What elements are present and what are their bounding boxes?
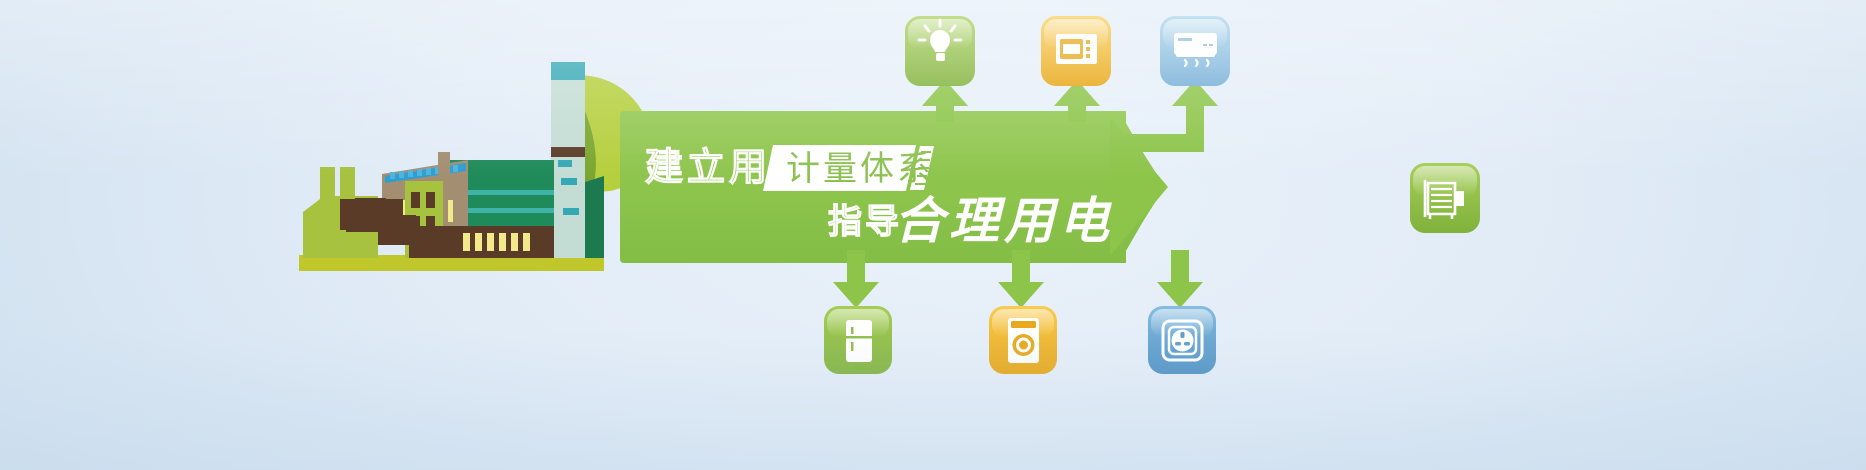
icon-power-socket[interactable] [1148,306,1216,374]
chimney [551,62,585,258]
badge-label-text: 计量体系 [786,150,934,188]
front-hall [409,226,554,258]
banner-illustration-layer: 建立用电 计量体系 指导 合理用电 [0,0,1866,470]
refrigerator-glyph [846,320,872,362]
icon-washing-machine[interactable] [989,306,1057,374]
icon-refrigerator[interactable] [824,306,892,374]
badge-ribbon: 计量体系 [763,145,934,191]
icon-electric-motor[interactable] [1410,163,1480,233]
small-chimney [438,152,450,186]
line2-emphasis-text: 合理用电 [894,193,1114,249]
banner-canvas: 建立用电 计量体系 指导 合理用电 照明灯具 微波炉 空调 电冰箱 洗衣机 电源… [0,0,1866,470]
icon-microwave[interactable] [1041,16,1111,86]
icon-light-bulb[interactable] [905,16,975,86]
line2-prefix-text: 指导 [828,203,902,241]
washing-machine-glyph [1008,318,1039,363]
icon-air-conditioner[interactable] [1160,16,1230,86]
power-plant-illustration [299,62,650,271]
up-connector-elbow [1126,80,1218,152]
microwave-glyph [1056,34,1097,64]
